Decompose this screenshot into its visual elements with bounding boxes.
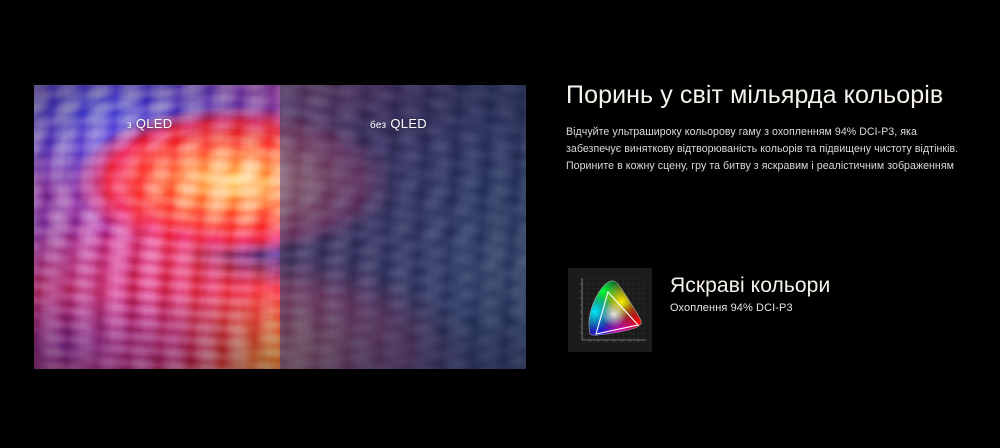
- feature-title: Яскраві кольори: [670, 274, 830, 298]
- hero-product-image: з QLED без QLED: [34, 85, 526, 369]
- label-without-qled-prefix: без: [370, 120, 386, 131]
- label-with-qled: з QLED: [127, 116, 172, 131]
- page-description: Відчуйте ультрашироку кольорову гаму з о…: [566, 124, 964, 176]
- label-without-qled-text: QLED: [390, 116, 427, 131]
- page-title: Поринь у світ мільярда кольорів: [566, 80, 966, 110]
- label-without-qled: без QLED: [370, 116, 427, 131]
- cie-chromaticity-diagram-icon: [568, 268, 652, 352]
- feature-text-group: Яскраві кольори Охоплення 94% DCI-P3: [670, 268, 830, 315]
- copy-column: Поринь у світ мільярда кольорів Відчуйте…: [566, 80, 966, 176]
- feature-block-vivid-colors: Яскраві кольори Охоплення 94% DCI-P3: [568, 268, 830, 352]
- label-with-qled-text: QLED: [136, 116, 173, 131]
- feature-subtitle: Охоплення 94% DCI-P3: [670, 301, 830, 315]
- label-with-qled-prefix: з: [127, 120, 132, 131]
